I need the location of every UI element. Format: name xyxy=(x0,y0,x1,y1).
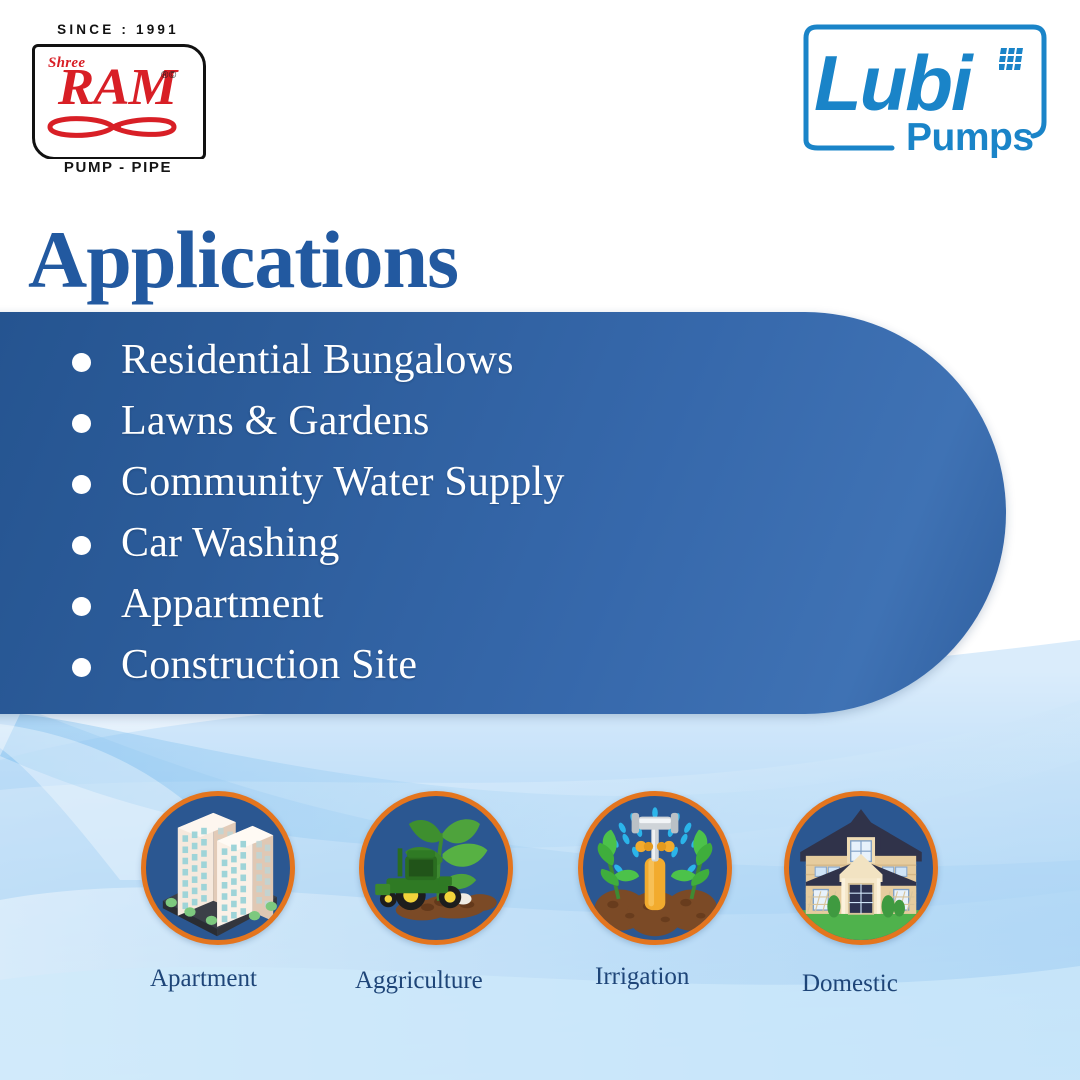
lubi-sub-wordmark: Pumps xyxy=(906,118,1034,157)
list-item: Appartment xyxy=(72,574,832,635)
ram-tagline: PUMP - PIPE xyxy=(18,159,218,176)
poster: SINCE : 1991 Shree RAM ®© PUMP - PIPE Lu… xyxy=(0,0,1080,1080)
applications-list: Residential Bungalows Lawns & Gardens Co… xyxy=(72,330,832,696)
list-item-label: Car Washing xyxy=(121,513,340,573)
icon-circle-domestic[interactable] xyxy=(784,791,938,945)
house-icon xyxy=(789,796,933,940)
tractor-plant-icon xyxy=(364,796,508,940)
sprinkler-icon xyxy=(583,796,727,940)
list-item-label: Appartment xyxy=(121,574,324,634)
ram-swirl-icon xyxy=(46,114,188,140)
lubi-grid-dot-icon xyxy=(999,46,1029,72)
bullet-icon xyxy=(72,475,91,494)
lubi-wordmark: Lubi xyxy=(814,44,971,122)
bullet-icon xyxy=(72,597,91,616)
list-item: Construction Site xyxy=(72,635,832,696)
list-item: Residential Bungalows xyxy=(72,330,832,391)
icon-circle-apartment[interactable] xyxy=(141,791,295,945)
list-item-label: Residential Bungalows xyxy=(121,330,514,390)
bullet-icon xyxy=(72,536,91,555)
list-item: Lawns & Gardens xyxy=(72,391,832,452)
bullet-icon xyxy=(72,353,91,372)
registered-mark: ®© xyxy=(161,70,177,81)
list-item-label: Community Water Supply xyxy=(121,452,565,512)
list-item: Car Washing xyxy=(72,513,832,574)
icon-circle-agriculture[interactable] xyxy=(359,791,513,945)
list-item: Community Water Supply xyxy=(72,452,832,513)
icon-caption-irrigation: Irrigation xyxy=(595,963,689,991)
apartment-buildings-icon xyxy=(146,796,290,940)
icon-caption-apartment: Apartment xyxy=(150,965,257,993)
icon-caption-domestic: Domestic xyxy=(802,970,898,998)
lubi-pumps-logo: Lubi Pumps xyxy=(788,22,1056,162)
list-item-label: Construction Site xyxy=(121,635,417,695)
list-item-label: Lawns & Gardens xyxy=(121,391,430,451)
icon-circle-irrigation[interactable] xyxy=(578,791,732,945)
shree-ram-logo: SINCE : 1991 Shree RAM ®© PUMP - PIPE xyxy=(18,22,218,172)
page-title: Applications xyxy=(28,216,458,304)
icon-caption-agriculture: Aggriculture xyxy=(355,967,483,995)
bullet-icon xyxy=(72,414,91,433)
since-label: SINCE : 1991 xyxy=(18,22,218,37)
bullet-icon xyxy=(72,658,91,677)
